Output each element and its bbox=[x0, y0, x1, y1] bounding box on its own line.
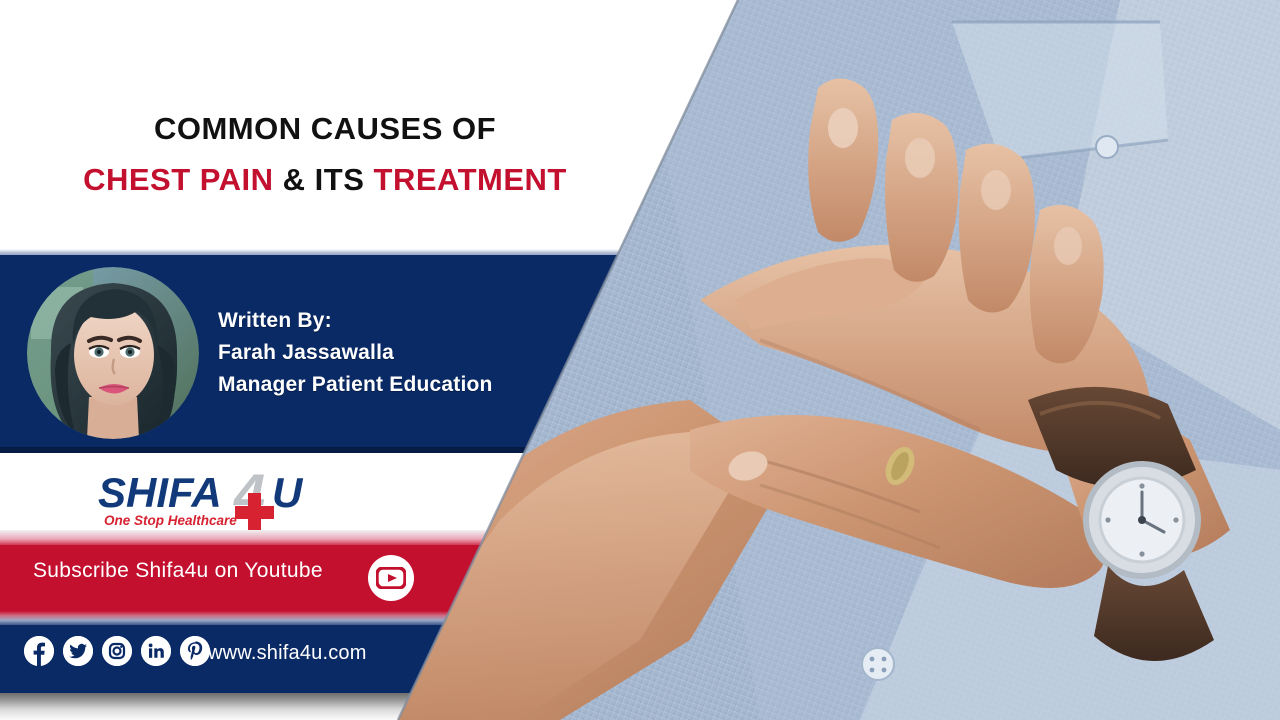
social-icon-list bbox=[24, 636, 210, 666]
shifa4u-logo[interactable]: 4 SHIFA U One Stop Healthcare bbox=[96, 463, 336, 533]
facebook-icon[interactable] bbox=[24, 636, 54, 666]
pinterest-icon[interactable] bbox=[180, 636, 210, 666]
youtube-icon[interactable] bbox=[368, 555, 414, 601]
logo-tagline: One Stop Healthcare bbox=[104, 513, 237, 528]
written-by-label: Written By: bbox=[218, 305, 493, 337]
twitter-icon[interactable] bbox=[63, 636, 93, 666]
subscribe-label: Subscribe Shifa4u on Youtube bbox=[33, 559, 323, 583]
title-line-1: COMMON CAUSES OF bbox=[0, 108, 650, 150]
author-info: Written By: Farah Jassawalla Manager Pat… bbox=[218, 305, 493, 401]
website-url[interactable]: www.shifa4u.com bbox=[208, 642, 367, 665]
instagram-icon[interactable] bbox=[102, 636, 132, 666]
banner-canvas: COMMON CAUSES OF CHEST PAIN & ITS TREATM… bbox=[0, 0, 1280, 720]
title-conjunction: & ITS bbox=[274, 162, 374, 197]
linkedin-icon[interactable] bbox=[141, 636, 171, 666]
page-title: COMMON CAUSES OF CHEST PAIN & ITS TREATM… bbox=[0, 108, 650, 201]
author-name: Farah Jassawalla bbox=[218, 337, 493, 369]
title-highlight-treatment: TREATMENT bbox=[374, 162, 567, 197]
avatar bbox=[27, 267, 199, 439]
logo-wordmark-u: U bbox=[272, 469, 304, 516]
title-highlight-chest-pain: CHEST PAIN bbox=[83, 162, 273, 197]
logo-wordmark-shifa: SHIFA bbox=[98, 469, 222, 516]
title-line-2: CHEST PAIN & ITS TREATMENT bbox=[0, 159, 650, 201]
author-role: Manager Patient Education bbox=[218, 369, 493, 401]
